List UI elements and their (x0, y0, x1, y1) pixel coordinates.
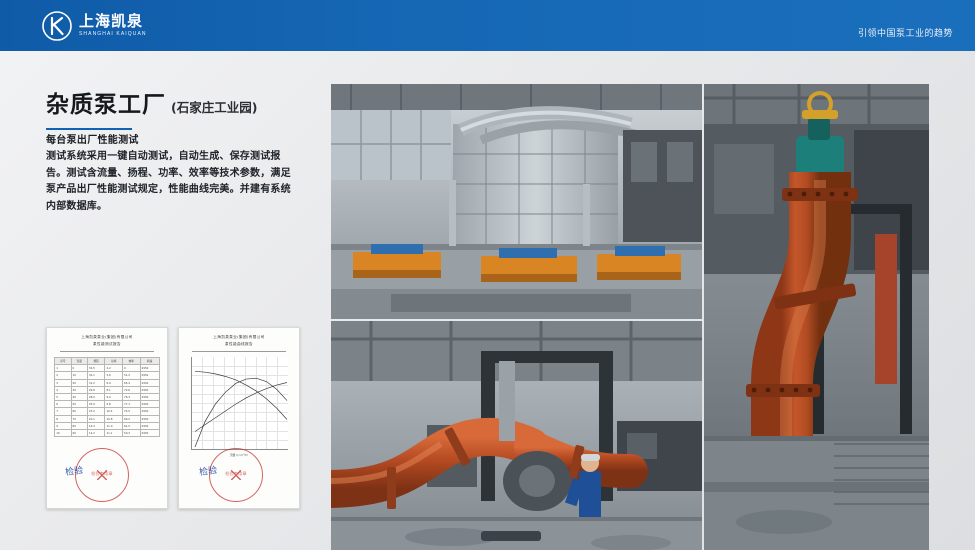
cell: 0 (122, 365, 140, 372)
title-main: 杂质泵工厂 (46, 85, 166, 119)
cell: 4 (55, 386, 71, 393)
cell: 7 (55, 408, 71, 415)
col-0: 序号 (55, 358, 71, 365)
signature: 检验 (198, 463, 218, 478)
cell: 4.2 (105, 365, 123, 372)
cell: 2950 (140, 429, 159, 436)
cell: 40 (71, 393, 87, 400)
cell: 8 (55, 415, 71, 422)
signature: 检验 (64, 463, 84, 478)
cell: 32.5 (87, 365, 105, 372)
stamp-text: 检验专用章 (76, 471, 128, 477)
table-header-row: 序号 流量 扬程 功率 效率 转速 (55, 358, 160, 365)
cell: 2 (55, 372, 71, 379)
cell: 51.2 (122, 372, 140, 379)
cell: 11.0 (105, 422, 123, 429)
table-row: 7 60 23.2 10.4 74.5 2950 (55, 408, 160, 415)
cell: 60 (71, 408, 87, 415)
cell: 2950 (140, 372, 159, 379)
title-underline (46, 128, 132, 130)
cell: 2950 (140, 365, 159, 372)
cell: 76.3 (122, 393, 140, 400)
cell: 2950 (140, 379, 159, 386)
doc1-title-line2: 泵性能测试报告 (47, 342, 167, 347)
photo-test-bay-pipework[interactable] (331, 321, 702, 550)
photo-collage (331, 84, 929, 550)
cell: 2950 (140, 386, 159, 393)
table-row: 6 50 25.9 9.8 77.1 2950 (55, 401, 160, 408)
doc1-title-line1: 上海凯泉泵业(集团)有限公司 (47, 335, 167, 340)
logo-text-en: SHANGHAI KAIQUAN (79, 32, 147, 37)
cell: 11.1 (105, 429, 123, 436)
cell: 20.1 (87, 415, 105, 422)
cell: 10 (55, 429, 71, 436)
col-3: 功率 (105, 358, 123, 365)
col-1: 流量 (71, 358, 87, 365)
cell: 16.4 (87, 422, 105, 429)
cell: 1 (55, 365, 71, 372)
doc1-header: 上海凯泉泵业(集团)有限公司 泵性能测试报告 (47, 328, 167, 347)
cell: 12.2 (87, 429, 105, 436)
doc2-header: 上海凯泉泵业(集团)有限公司 泵性能曲线报告 (179, 328, 299, 347)
doc1-table: 序号 流量 扬程 功率 效率 转速 1 0 32.5 4.2 0 2950 (54, 357, 160, 437)
cell: 10.8 (105, 415, 123, 422)
title-sub: (石家庄工业园) (171, 97, 257, 116)
cell: 29.8 (87, 386, 105, 393)
cell: 25.9 (87, 401, 105, 408)
col-2: 扬程 (87, 358, 105, 365)
header-slogan: 引领中国泵工业的趋势 (858, 26, 953, 39)
cell: 28.0 (87, 393, 105, 400)
cell: 80 (71, 422, 87, 429)
lead-text: 每台泵出厂性能测试 (46, 131, 304, 146)
table-row: 9 80 16.4 11.0 61.5 2950 (55, 422, 160, 429)
cell: 2950 (140, 415, 159, 422)
photo-test-bay-tanks[interactable] (331, 84, 702, 319)
table-row: 8 70 20.1 10.8 69.2 2950 (55, 415, 160, 422)
doc2-rule (192, 351, 286, 352)
cell: 10 (71, 372, 87, 379)
cell: 32.1 (87, 372, 105, 379)
cell: 90 (71, 429, 87, 436)
cell: 70 (71, 415, 87, 422)
cell: 74.5 (122, 408, 140, 415)
cell: 2950 (140, 422, 159, 429)
doc2-title-line2: 泵性能曲线报告 (179, 342, 299, 347)
table-row: 2 10 32.1 5.6 51.2 2950 (55, 372, 160, 379)
slide-root: 上海凯泉 SHANGHAI KAIQUAN 引领中国泵工业的趋势 杂质泵工厂(石… (0, 0, 975, 550)
cell: 23.2 (87, 408, 105, 415)
page-title: 杂质泵工厂(石家庄工业园) (46, 85, 308, 130)
cell: 9 (55, 422, 71, 429)
test-report-table[interactable]: 上海凯泉泵业(集团)有限公司 泵性能测试报告 序号 流量 扬程 功率 效率 转速… (46, 327, 168, 509)
cell: 2950 (140, 401, 159, 408)
cell: 50.3 (122, 429, 140, 436)
brand-logo[interactable]: 上海凯泉 SHANGHAI KAIQUAN (42, 9, 147, 42)
cell: 31.2 (87, 379, 105, 386)
cell: 69.2 (122, 415, 140, 422)
cell: 5 (55, 393, 71, 400)
doc1-rule (60, 351, 154, 352)
cell: 5.6 (105, 372, 123, 379)
col-4: 效率 (122, 358, 140, 365)
performance-curve-report[interactable]: 上海凯泉泵业(集团)有限公司 泵性能曲线报告 (178, 327, 300, 509)
table-row: 1 0 32.5 4.2 0 2950 (55, 365, 160, 372)
cell: 8.1 (105, 386, 123, 393)
curve-lines (192, 357, 288, 449)
cell: 6 (55, 401, 71, 408)
cell: 3 (55, 379, 71, 386)
logo-text-cn: 上海凯泉 (79, 14, 147, 29)
table-row: 4 30 29.8 8.1 72.6 2950 (55, 386, 160, 393)
table-row: 10 90 12.2 11.1 50.3 2950 (55, 429, 160, 436)
kaiquan-k-mark-icon (42, 11, 72, 41)
photo-large-pipe-elbow[interactable] (704, 84, 929, 550)
cell: 61.5 (122, 422, 140, 429)
document-thumbnails: 上海凯泉泵业(集团)有限公司 泵性能测试报告 序号 流量 扬程 功率 效率 转速… (46, 327, 302, 509)
cell: 2950 (140, 393, 159, 400)
cell: 9.8 (105, 401, 123, 408)
cell: 30 (71, 386, 87, 393)
slide-content: 杂质泵工厂(石家庄工业园) 每台泵出厂性能测试 测试系统采用一键自动测试，自动生… (0, 51, 975, 550)
table-row: 3 20 31.2 6.9 65.4 2950 (55, 379, 160, 386)
performance-chart (191, 357, 288, 450)
body-paragraph: 测试系统采用一键自动测试，自动生成、保存测试报告。测试含流量、扬程、功率、效率等… (46, 149, 298, 215)
cell: 65.4 (122, 379, 140, 386)
cell: 9.0 (105, 393, 123, 400)
cell: 50 (71, 401, 87, 408)
table-row: 5 40 28.0 9.0 76.3 2950 (55, 393, 160, 400)
col-5: 转速 (140, 358, 159, 365)
cell: 10.4 (105, 408, 123, 415)
cell: 0 (71, 365, 87, 372)
page-header: 上海凯泉 SHANGHAI KAIQUAN 引领中国泵工业的趋势 (0, 0, 975, 51)
cell: 72.6 (122, 386, 140, 393)
cell: 6.9 (105, 379, 123, 386)
cell: 2950 (140, 408, 159, 415)
stamp-text: 检验专用章 (210, 471, 262, 477)
doc2-title-line1: 上海凯泉泵业(集团)有限公司 (179, 335, 299, 340)
cell: 20 (71, 379, 87, 386)
cell: 77.1 (122, 401, 140, 408)
